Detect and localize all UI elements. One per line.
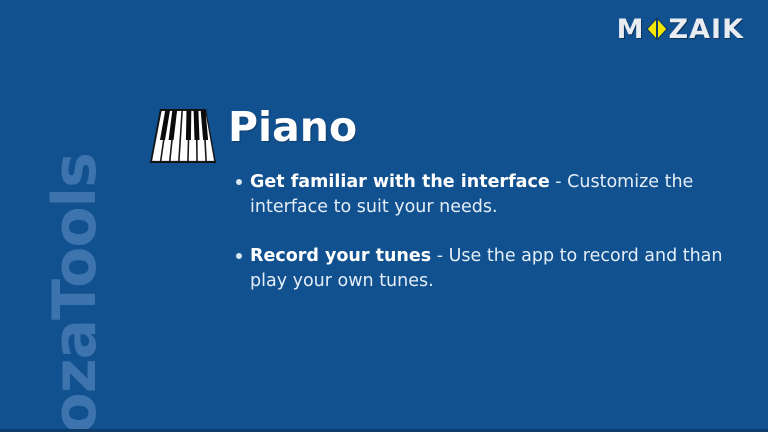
bullet-list: Get familiar with the interface - Custom… (236, 170, 736, 317)
mozaik-diamond-icon (646, 17, 668, 41)
watermark-label: mozaTools (45, 153, 105, 432)
list-item: Get familiar with the interface - Custom… (236, 170, 736, 220)
page-title: Piano (228, 104, 357, 151)
bullet-lead: Record your tunes (250, 246, 431, 266)
logo-suffix: ZAIK (669, 16, 744, 43)
bullet-text: Get familiar with the interface - Custom… (250, 170, 736, 220)
logo-prefix: M (617, 16, 645, 43)
bullet-dot-icon (236, 253, 242, 259)
mozaik-logo: M ZAIK (617, 14, 744, 44)
watermark-mozatools: mozaTools (40, 75, 110, 432)
bullet-dot-icon (236, 179, 242, 185)
bullet-text: Record your tunes - Use the app to recor… (250, 244, 736, 294)
list-item: Record your tunes - Use the app to recor… (236, 244, 736, 294)
slide-canvas: mozaTools M ZAIK (0, 0, 768, 432)
bullet-lead: Get familiar with the interface (250, 172, 550, 192)
piano-keys-icon (150, 109, 216, 165)
